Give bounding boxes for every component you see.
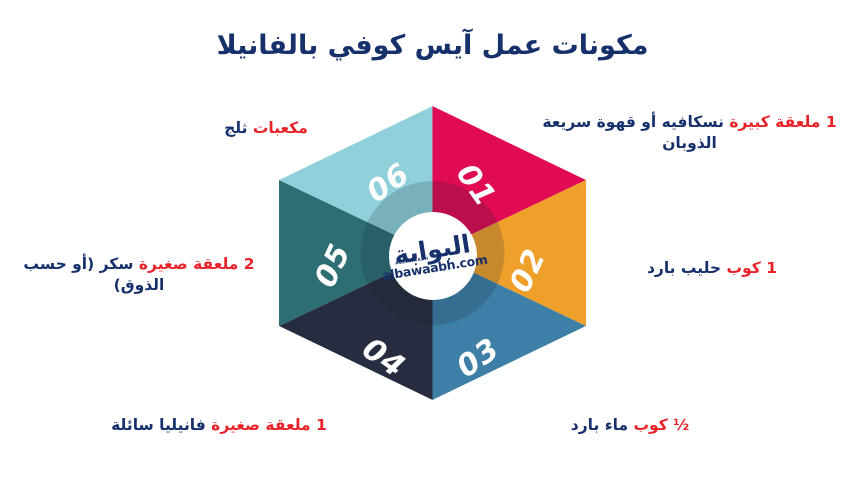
infographic-canvas: مكونات عمل آيس كوفي بالفانيلا [0,0,865,480]
segment-label-03: ½ كوب ماء بارد [495,415,765,436]
segment-label-03-rest: ماء بارد [571,416,628,434]
segment-label-02-rest: حليب بارد [647,259,721,277]
segment-label-02: 1 كوب حليب بارد [581,258,843,279]
segment-label-02-highlight: 1 كوب [727,259,778,277]
segment-label-01: 1 ملعقة كبيرة نسكافيه أو قهوة سريعة الذو… [522,112,857,154]
segment-label-01-rest: نسكافيه أو قهوة سريعة الذوبان [542,113,724,152]
segment-label-06-rest: ثلج [224,119,247,137]
segment-label-04-highlight: 1 ملعقة صغيرة [211,416,327,434]
segment-label-03-highlight: ½ كوب [633,416,689,434]
segment-label-05-highlight: 2 ملعقة صغيرة [139,255,255,273]
page-title: مكونات عمل آيس كوفي بالفانيلا [0,30,865,61]
segment-label-01-highlight: 1 ملعقة كبيرة [729,113,836,131]
segment-label-05: 2 ملعقة صغيرة سكر (أو حسب الذوق) [6,254,272,296]
center-logo: البوابة albawaabh.com ALBAWAABH [389,212,477,300]
segment-label-04: 1 ملعقة صغيرة فانيليا سائلة [88,415,350,436]
segment-label-06: مكعبات ثلج [190,118,342,139]
segment-label-04-rest: فانيليا سائلة [111,416,206,434]
segment-label-06-highlight: مكعبات [253,119,308,137]
